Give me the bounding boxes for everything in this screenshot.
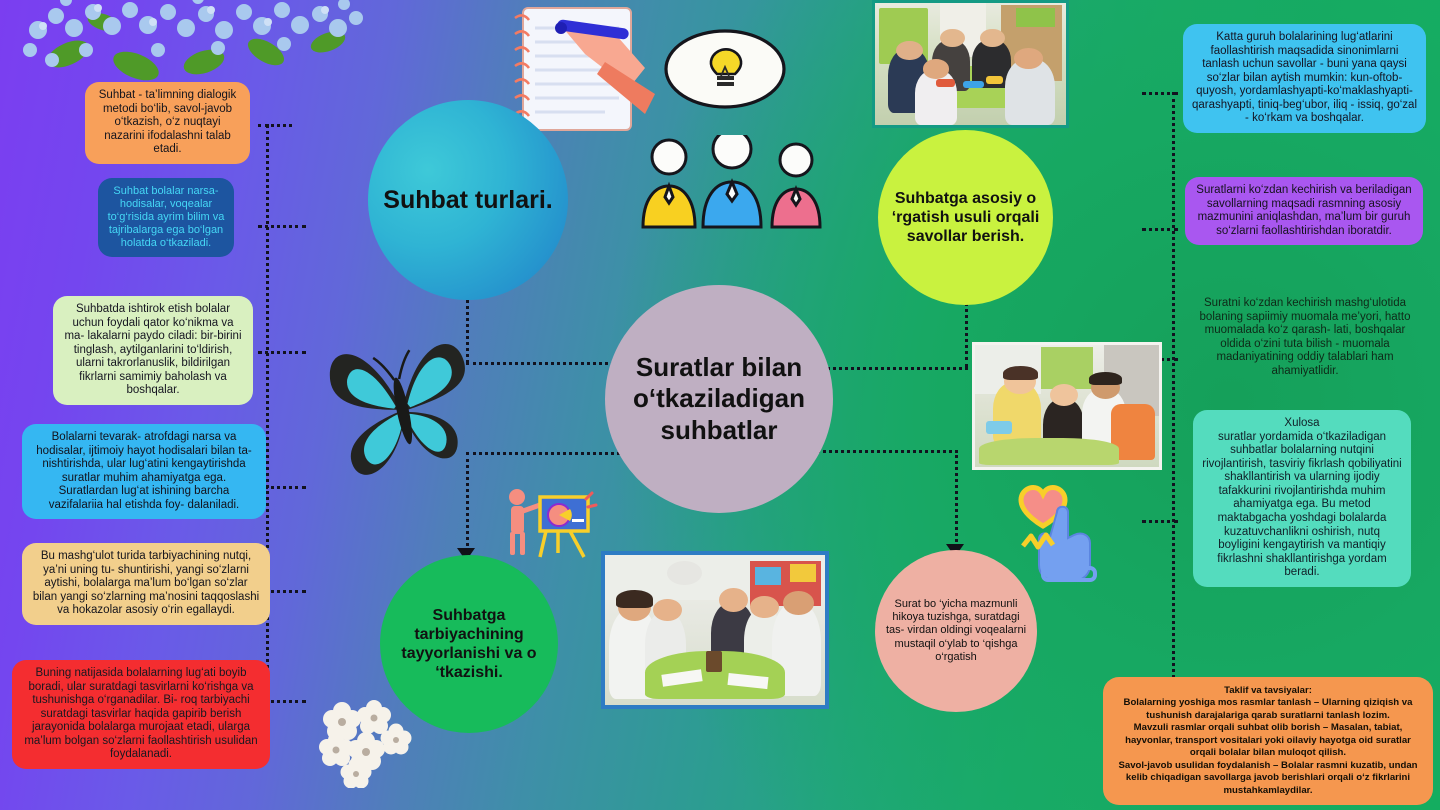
infographic-canvas: Suhbat turlari. Suhbatga asosiy o ‘rgati… bbox=[0, 0, 1440, 810]
card-text: suratlar yordamida o‘tkaziladigan suhbat… bbox=[1202, 431, 1401, 579]
white-flowers-icon bbox=[312, 698, 422, 788]
connector-purple-review bbox=[1142, 228, 1178, 231]
photo-teacher-kids-right bbox=[972, 342, 1162, 470]
card-darkblue-condition[interactable]: Suhbat bolalar narsa-hodisalar, voqealar… bbox=[98, 178, 234, 257]
heart-and-pointing-hand-icon bbox=[1013, 478, 1121, 583]
card-red-result[interactable]: Buning natijasida bolalarning lug‘ati bo… bbox=[12, 660, 270, 769]
card-text: Suhbat bolalar narsa-hodisalar, voqealar… bbox=[108, 185, 225, 249]
connector-center-right-lower bbox=[810, 450, 958, 453]
card-conclusion[interactable]: Xulosa suratlar yordamida o‘tkaziladigan… bbox=[1193, 410, 1411, 587]
connector-orange bbox=[258, 124, 292, 127]
card-text: Suhbatda ishtirok etish bolalar uchun fo… bbox=[64, 303, 241, 396]
recommendations-line-2: Mavzuli rasmlar orqali suhbat olib boris… bbox=[1115, 722, 1421, 759]
connector-center-right-upper bbox=[810, 367, 968, 370]
card-text: Bu mashg‘ulot turida tarbiyachining nutq… bbox=[33, 550, 259, 616]
connector-mint bbox=[258, 351, 306, 354]
card-synonyms[interactable]: Katta guruh bolalarining lug‘atlarini fa… bbox=[1183, 24, 1426, 133]
card-mint-skills[interactable]: Suhbatda ishtirok etish bolalar uchun fo… bbox=[53, 296, 253, 405]
card-purple-review[interactable]: Suratlarni ko‘zdan kechirish va beriladi… bbox=[1185, 177, 1423, 245]
connector-center-left-lower bbox=[466, 452, 626, 455]
card-recommendations[interactable]: Taklif va tavsiyalar: Bolalarning yoshig… bbox=[1103, 677, 1433, 805]
presenter-with-board-icon bbox=[500, 485, 598, 560]
lightbulb-speech-bubble-icon bbox=[663, 28, 787, 110]
node-surat-boyicha[interactable]: Surat bo ‘yicha mazmunli hikoya tuzishga… bbox=[875, 550, 1037, 712]
node-center-topic[interactable]: Suratlar bilan o‘tkaziladigan suhbatlar bbox=[605, 285, 833, 513]
recommendations-line-3: Savol-javob usulidan foydalanish – Bolal… bbox=[1115, 760, 1421, 797]
node-label: Suhbat turlari. bbox=[383, 185, 552, 215]
connector-center-left-upper bbox=[466, 362, 626, 365]
card-text: Bolalarni tevarak- atrofdagi narsa va ho… bbox=[36, 431, 251, 511]
card-orange-definition[interactable]: Suhbat - ta’limning dialogik metodi bo‘l… bbox=[85, 82, 250, 164]
connector-darkblue bbox=[258, 225, 306, 228]
three-people-icons bbox=[637, 135, 827, 230]
node-label: Surat bo ‘yicha mazmunli hikoya tuzishga… bbox=[885, 598, 1027, 664]
node-suhbatga-asosiy[interactable]: Suhbatga asosiy o ‘rgatish usuli orqali … bbox=[878, 130, 1053, 305]
photo-class-bottom bbox=[601, 551, 829, 709]
node-suhbat-turlari[interactable]: Suhbat turlari. bbox=[368, 100, 568, 300]
connector-right-trunk bbox=[1172, 92, 1175, 684]
recommendations-line-1: Bolalarning yoshiga mos rasmlar tanlash … bbox=[1115, 697, 1421, 722]
card-text: Suratlarni ko‘zdan kechirish va beriladi… bbox=[1196, 184, 1411, 237]
node-label: Suhbatga asosiy o ‘rgatish usuli orqali … bbox=[888, 189, 1043, 247]
card-text: Buning natijasida bolalarning lug‘ati bo… bbox=[24, 667, 257, 760]
card-text: Suratni ko‘zdan kechirish mashg‘ulotida … bbox=[1200, 297, 1411, 377]
node-label: Suratlar bilan o‘tkaziladigan suhbatlar bbox=[615, 352, 823, 446]
card-text: Katta guruh bolalarining lug‘atlarini fa… bbox=[1192, 31, 1417, 124]
card-tan-speech[interactable]: Bu mashg‘ulot turida tarbiyachining nutq… bbox=[22, 543, 270, 625]
card-plain-culture[interactable]: Suratni ko‘zdan kechirish mashg‘ulotida … bbox=[1180, 290, 1430, 385]
card-title: Xulosa bbox=[1202, 417, 1402, 431]
connector-down-to-surat bbox=[955, 450, 958, 548]
connector-conclusion bbox=[1142, 520, 1178, 523]
card-cyan-pictures[interactable]: Bolalarni tevarak- atrofdagi narsa va ho… bbox=[22, 424, 266, 519]
connector-synonyms bbox=[1142, 92, 1178, 95]
card-text: Suhbat - ta’limning dialogik metodi bo‘l… bbox=[99, 89, 236, 155]
node-suhbatga-tarbiyachining[interactable]: Suhbatga tarbiyachining tayyorlanishi va… bbox=[380, 555, 558, 733]
recommendations-title: Taklif va tavsiyalar: bbox=[1115, 685, 1421, 697]
node-label: Suhbatga tarbiyachining tayyorlanishi va… bbox=[390, 606, 548, 683]
blue-butterfly-icon bbox=[322, 325, 482, 490]
photo-kids-table-top bbox=[872, 0, 1069, 128]
